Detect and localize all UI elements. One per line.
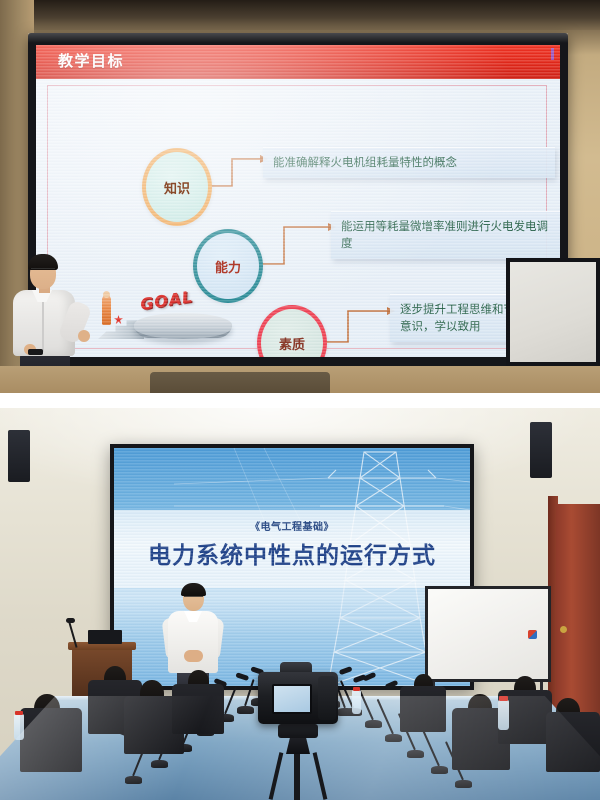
circle-knowledge-label: 知识 [164, 178, 190, 197]
tripod-leg-right [313, 752, 328, 800]
slide-corner-marker [551, 48, 554, 60]
photo-bottom-classroom: 《电气工程基础》 电力系统中性点的运行方式 [0, 408, 600, 800]
water-bottle-right-cap [499, 696, 508, 701]
whiteboard-top-surface [510, 262, 596, 362]
microphone-base [431, 766, 448, 774]
presentation-slide-top: 教学目标 知识 [36, 45, 560, 357]
page-root: 教学目标 知识 [0, 0, 600, 800]
callout-knowledge: 能准确解释火电机组耗量特性的概念 [263, 147, 555, 178]
chair [172, 684, 224, 734]
tripod-quick-release-plate [278, 724, 318, 738]
door-handle-icon [560, 626, 567, 633]
water-bottle-left [14, 714, 24, 740]
presenter-bottom-glasses [184, 596, 203, 601]
circle-ability: 能力 [193, 229, 263, 303]
camera-grip [318, 676, 336, 720]
dslr-camera-tripod [252, 658, 344, 800]
microphone-base [151, 760, 168, 768]
chair [546, 712, 600, 772]
microphone-base [125, 776, 142, 784]
slide-course-subtitle: 《电气工程基础》 [114, 518, 470, 533]
tripod-head [286, 736, 310, 754]
tripod-leg-left [269, 752, 284, 800]
circle-quality-label: 素质 [279, 334, 305, 353]
goal-podium-top [134, 313, 232, 339]
microphone-base [385, 734, 402, 742]
water-bottle-right [498, 700, 509, 730]
speaker-left [8, 430, 30, 482]
chair [400, 686, 446, 732]
speaker-right [530, 422, 552, 478]
presenter-top-hand-right [78, 330, 90, 342]
water-bottle-left-cap [15, 711, 23, 715]
ceiling-shadow-top [0, 0, 600, 30]
front-equipment-top [150, 372, 330, 393]
goal-climber-figure [102, 295, 111, 325]
presenter-bottom-hair [181, 583, 206, 596]
chair [20, 708, 82, 772]
presenter-top-shirt-placket [42, 296, 44, 352]
presenter-top-glasses [31, 268, 55, 274]
led-screen-bezel-top: 教学目标 知识 [28, 33, 568, 366]
whiteboard-top [506, 258, 600, 366]
slide-main-title: 电力系统中性点的运行方式 [114, 536, 470, 570]
photo-separator-gap [0, 393, 600, 408]
camera-lcd-screen[interactable] [272, 684, 312, 714]
whiteboard-magnet-icon [528, 630, 537, 639]
microphone-base [407, 750, 424, 758]
podium-microphone-head [66, 618, 75, 623]
podium-monitor [88, 630, 122, 644]
microphone-base [455, 780, 472, 788]
presenter-remote-clicker [28, 349, 43, 355]
presenter-bottom-hands [184, 650, 203, 662]
water-bottle-center [352, 690, 361, 714]
tripod-center-column [294, 752, 300, 800]
circle-knowledge: 知识 [142, 148, 212, 226]
microphone-base [365, 720, 382, 728]
slide-header-title: 教学目标 [58, 50, 124, 71]
water-bottle-center-cap [353, 687, 360, 691]
circle-ability-label: 能力 [215, 257, 241, 276]
callout-ability: 能运用等耗量微增率准则进行火电发电调度 [331, 211, 560, 259]
photo-top-classroom: 教学目标 知识 [0, 0, 600, 393]
goal-climber-head [103, 291, 110, 298]
